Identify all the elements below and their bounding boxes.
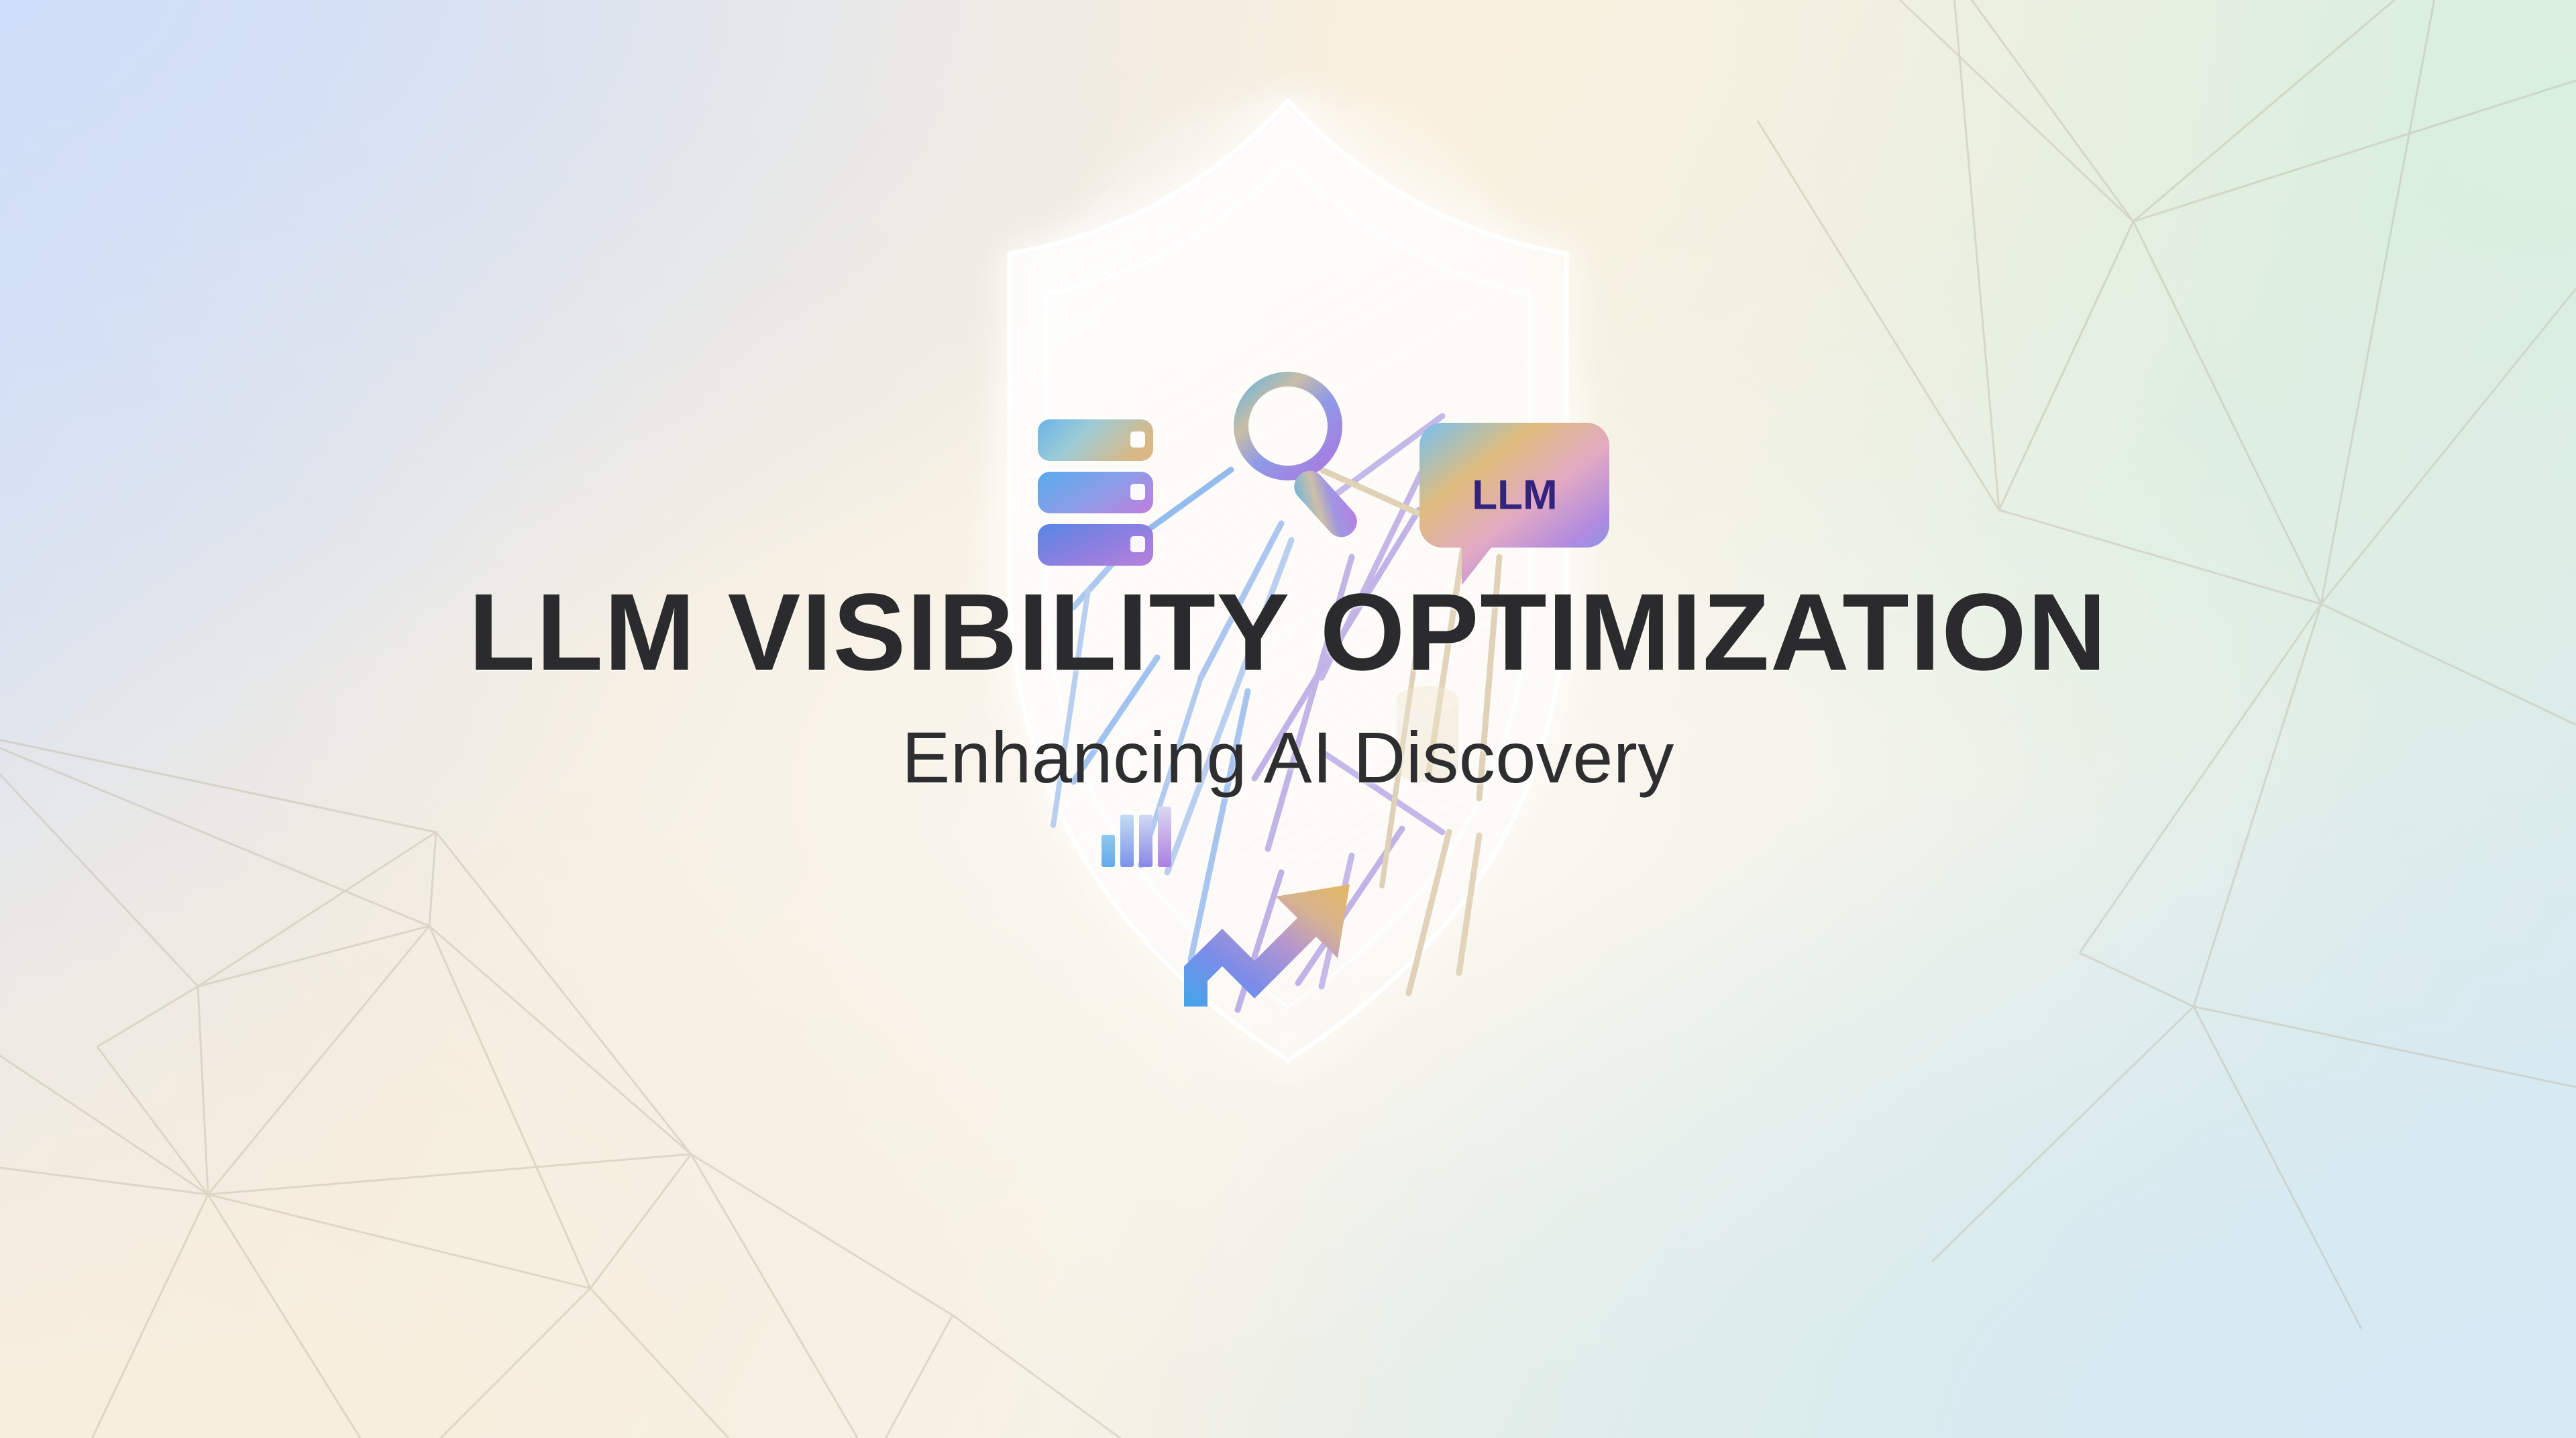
magnifier-search-icon: [1241, 379, 1363, 543]
bar-chart-icon: [1102, 807, 1171, 867]
llm-chat-bubble-icon: LLM: [1419, 423, 1609, 585]
icon-cluster: LLM: [852, 0, 1724, 1275]
database-cylinder-icon: [1397, 686, 1458, 782]
llm-bubble-label: LLM: [1472, 472, 1557, 518]
trending-up-arrow-icon: [1184, 884, 1350, 1007]
shield-composition: LLM: [852, 0, 1724, 1438]
banner-canvas: LLM LLM VISIBILITY OPTIMIZATION Enhancin…: [0, 0, 2576, 1438]
server-stack-icon: [1038, 419, 1153, 566]
